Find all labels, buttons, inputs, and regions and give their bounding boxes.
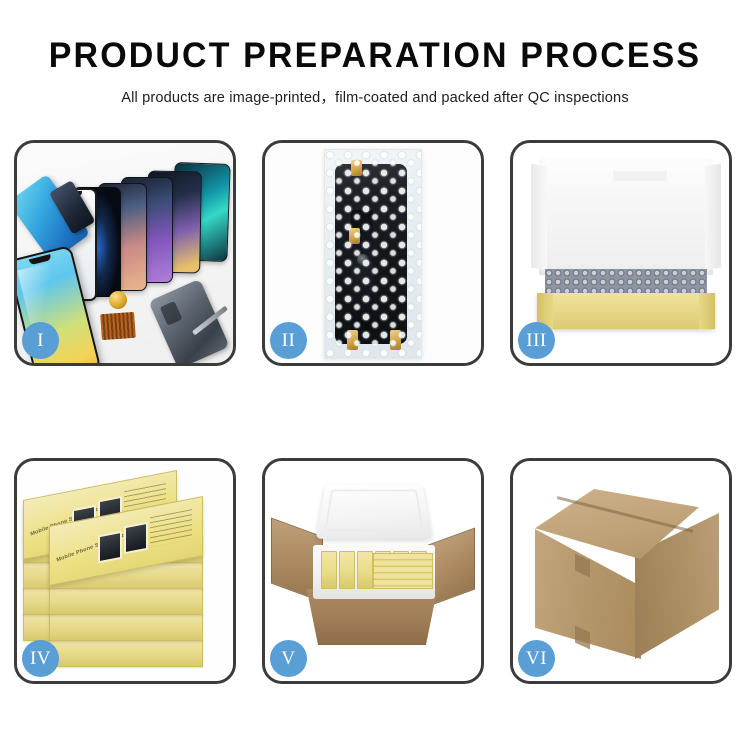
step-badge-5: V — [270, 640, 307, 677]
stacked-box-side — [49, 587, 203, 615]
bubble-texture-overlay — [325, 150, 421, 358]
box-window-icon — [124, 522, 148, 555]
stacked-box-side — [49, 613, 203, 641]
page-header: PRODUCT PREPARATION PROCESS All products… — [0, 0, 750, 107]
step-badge-6: VI — [518, 640, 555, 677]
process-step-3[interactable]: III — [510, 140, 732, 366]
step-badge-1: I — [22, 322, 59, 359]
yellow-box-base-icon — [537, 293, 715, 329]
foam-notch-icon — [613, 171, 667, 181]
step-badge-3: III — [518, 322, 555, 359]
process-step-2[interactable]: II — [262, 140, 484, 366]
yellow-box-item — [357, 551, 373, 589]
yellow-box-item — [321, 551, 337, 589]
bubble-wrap-bag-icon — [324, 149, 422, 359]
stacked-box-side — [49, 639, 203, 667]
foam-cooler-lid-icon — [316, 484, 433, 538]
step-badge-2: II — [270, 322, 307, 359]
process-step-grid: I II III — [14, 140, 736, 684]
yellow-boxes-flat-icon — [373, 553, 433, 589]
process-step-5[interactable]: V — [262, 458, 484, 684]
process-step-4[interactable]: Mobile Phone Spare Parts Mobile Phone Sp… — [14, 458, 236, 684]
spare-parts-tray-icon — [100, 312, 136, 340]
yellow-box-item — [339, 551, 355, 589]
box-stack-icon: Mobile Phone Spare Parts Mobile Phone Sp… — [19, 479, 233, 669]
page-subtitle: All products are image-printed，film-coat… — [0, 86, 750, 107]
box-spec-lines-icon — [150, 509, 192, 547]
foam-lid-icon — [539, 159, 713, 275]
speaker-part-icon — [109, 291, 127, 309]
process-step-6[interactable]: VI — [510, 458, 732, 684]
step-badge-4: IV — [22, 640, 59, 677]
box-window-icon — [98, 531, 122, 564]
page-title: PRODUCT PREPARATION PROCESS — [11, 38, 739, 73]
process-step-1[interactable]: I — [14, 140, 236, 366]
